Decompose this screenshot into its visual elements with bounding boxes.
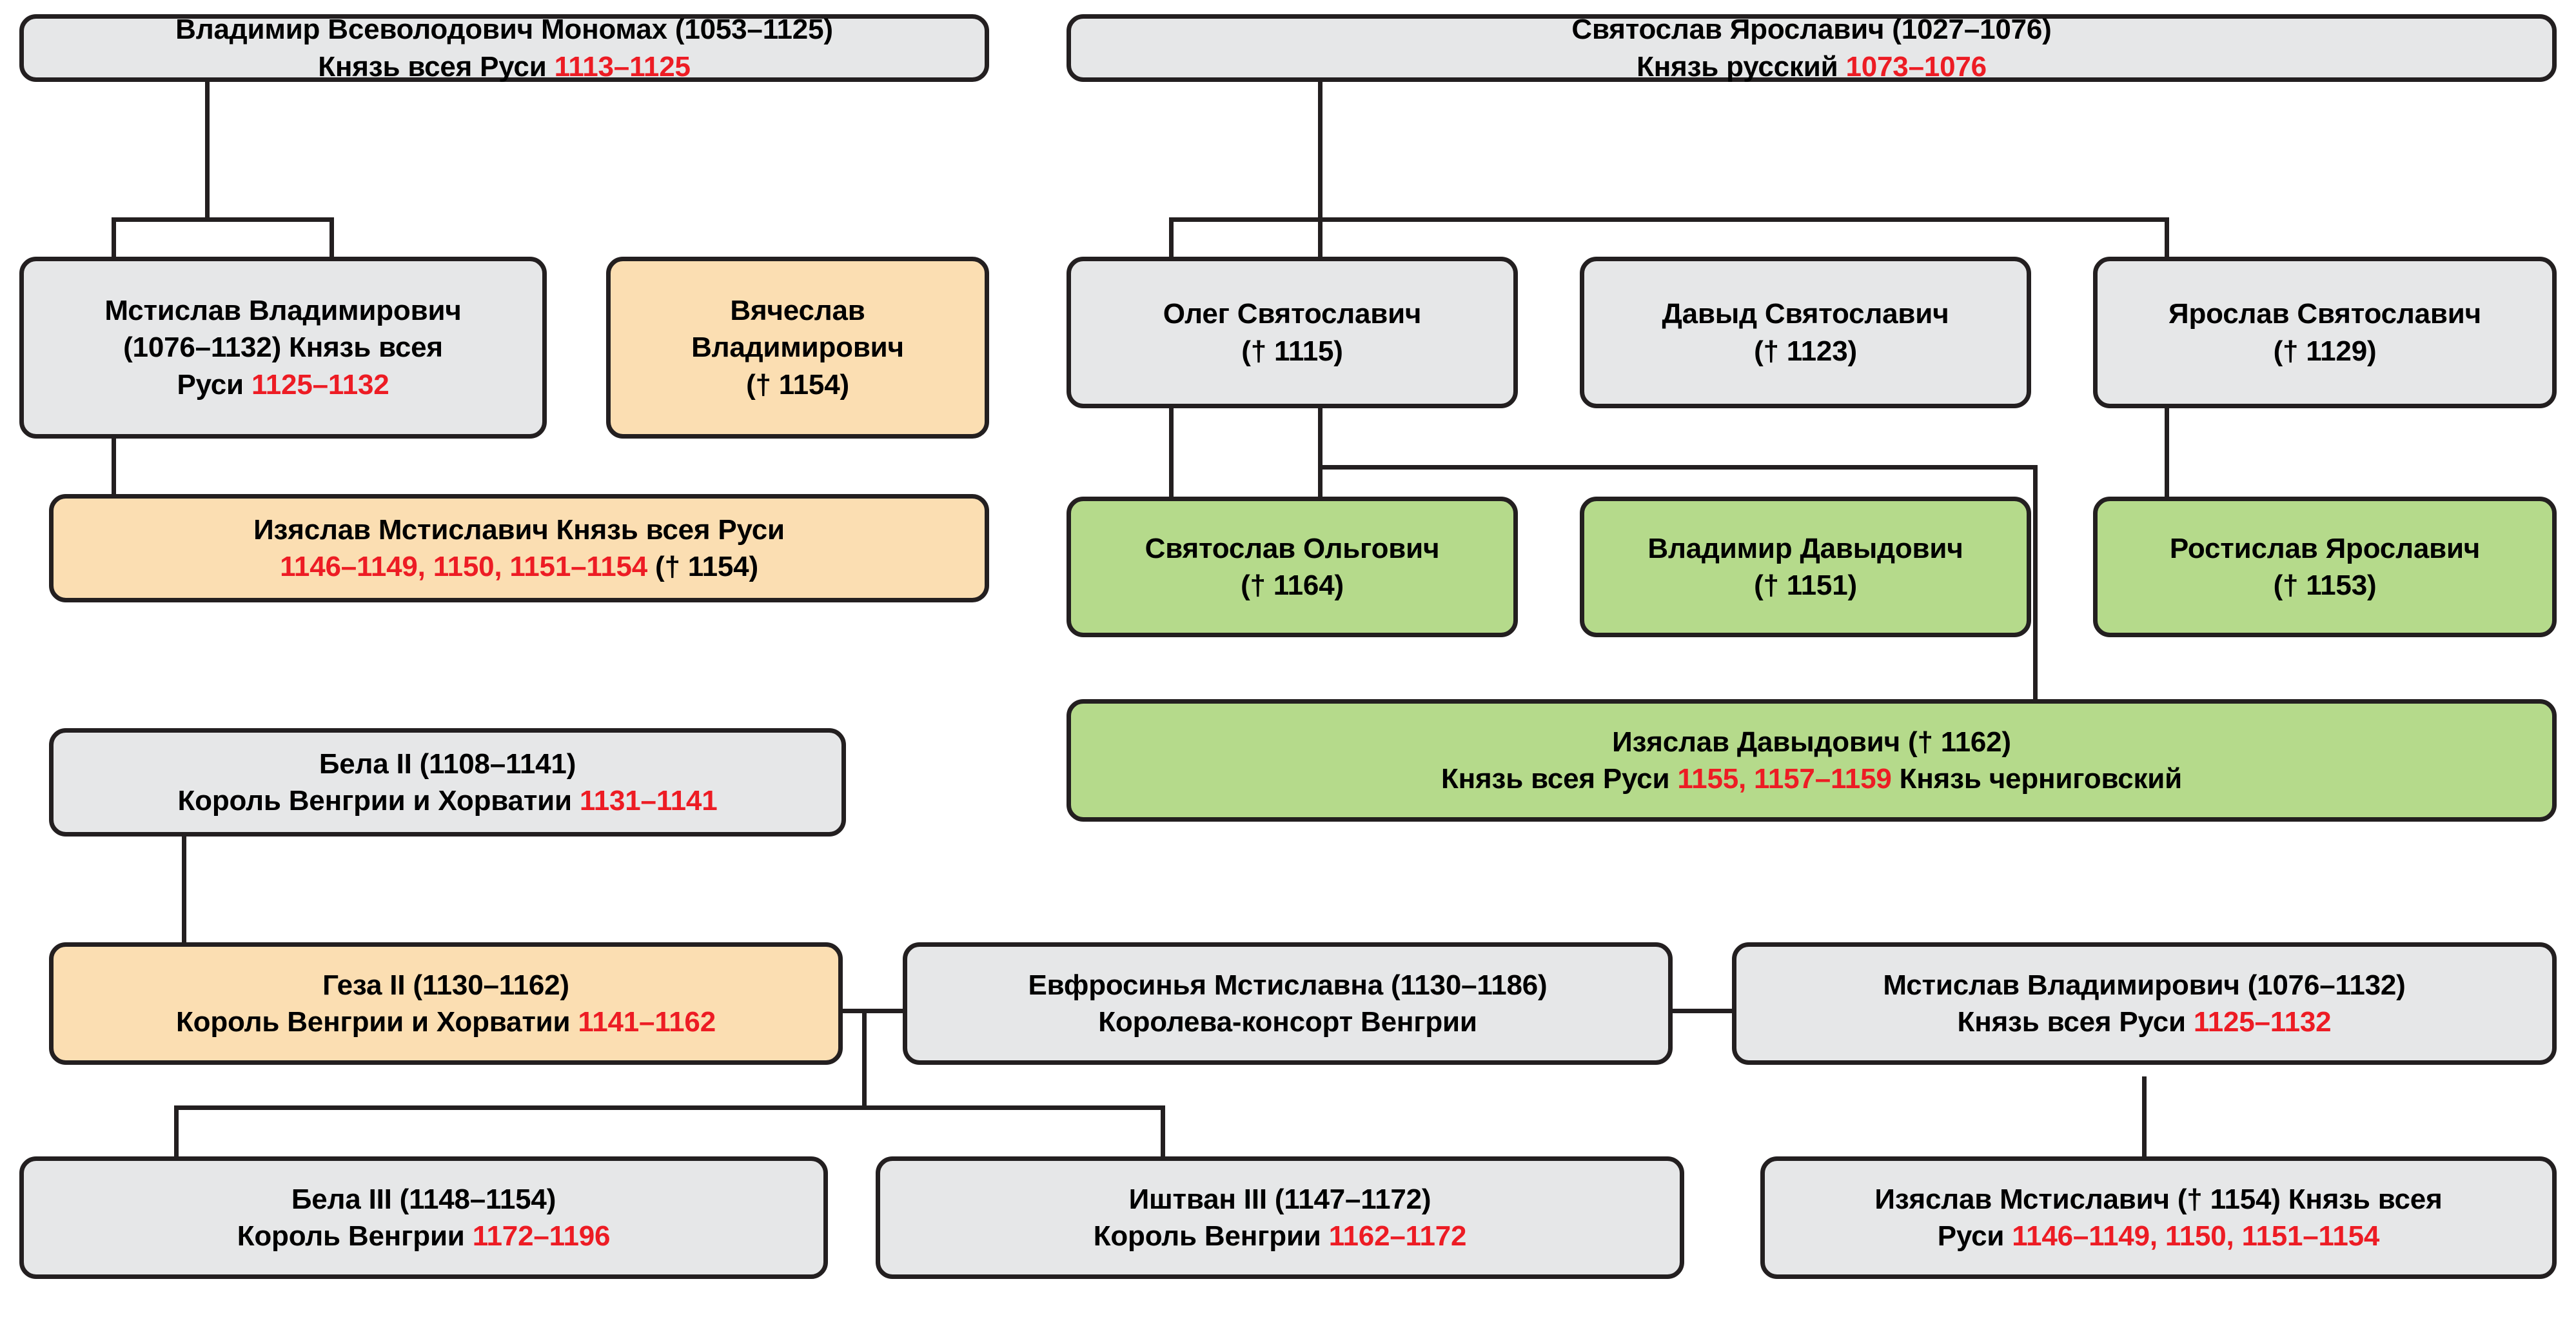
node-izyaslav-left-suffix: († 1154) xyxy=(647,551,758,582)
node-izyaslav-davydovich-title: Князь всея Руси xyxy=(1441,763,1677,795)
node-yaroslav-svyatoslavich[interactable]: Ярослав Святославич († 1129) xyxy=(2093,257,2557,408)
connector-davyd-branch-bar xyxy=(1318,465,2038,470)
node-ishtvan-iii[interactable]: Иштван III (1147–1172) Король Венгрии 11… xyxy=(876,1156,1684,1279)
node-evfrosinya-line2: Королева-консорт Венгрии xyxy=(918,1004,1658,1040)
node-izyaslav-davydovich-years: 1155, 1157–1159 xyxy=(1677,763,1891,795)
node-bela3-line1: Бела III (1148–1154) xyxy=(34,1181,813,1218)
node-ishtvan3-title: Король Венгрии xyxy=(1094,1220,1329,1252)
node-evfrosinya-mstislavna[interactable]: Евфросинья Мстиславна (1130–1186) Короле… xyxy=(903,942,1673,1065)
connector-to-ishtvan3 xyxy=(1161,1105,1165,1159)
node-davyd-line2: († 1123) xyxy=(1595,333,2016,370)
node-vladimir-monomakh-line1: Владимир Всеволодович Мономах (1053–1125… xyxy=(34,11,974,48)
node-rostislav-line2: († 1153) xyxy=(2108,567,2542,604)
node-rostislav-yaroslavich[interactable]: Ростислав Ярославич († 1153) xyxy=(2093,497,2557,637)
connector-mstislav-right-to-izyaslav-right xyxy=(2142,1076,2147,1159)
node-izyaslav-davydovich-suffix: Князь черниговский xyxy=(1892,763,2182,795)
node-mstislav-vladimirovich-top[interactable]: Мстислав Владимирович (1076–1132) Князь … xyxy=(19,257,547,439)
genealogy-diagram: Владимир Всеволодович Мономах (1053–1125… xyxy=(0,0,2576,1337)
node-oleg-line1: Олег Святославич xyxy=(1081,295,1503,332)
connector-davyd-branch-down xyxy=(2033,465,2038,702)
node-davyd-line1: Давыд Святославич xyxy=(1595,295,2016,332)
node-izyaslav-davydovich-line1: Изяслав Давыдович († 1162) xyxy=(1081,724,2542,760)
connector-children-bar-hungary xyxy=(174,1105,1165,1110)
connector-bela2-to-geza2 xyxy=(182,835,186,946)
node-vladimir-monomakh[interactable]: Владимир Всеволодович Мономах (1053–1125… xyxy=(19,14,989,82)
node-rostislav-line1: Ростислав Ярославич xyxy=(2108,530,2542,567)
node-yaroslav-line1: Ярослав Святославич xyxy=(2108,295,2542,332)
node-izyaslav-right-years: 1146–1149, 1150, 1151–1154 xyxy=(2012,1220,2379,1252)
node-vyacheslav-line2: Владимирович xyxy=(621,329,974,366)
node-svyatoslav-years: 1073–1076 xyxy=(1845,51,1986,83)
node-svyatoslav-line1: Святослав Ярославич (1027–1076) xyxy=(1081,11,2542,48)
node-svyatoslav-olgovich-line2: († 1164) xyxy=(1081,567,1503,604)
node-geza2-line1: Геза II (1130–1162) xyxy=(64,967,828,1004)
node-bela-ii[interactable]: Бела II (1108–1141) Король Венгрии и Хор… xyxy=(49,728,846,837)
node-svyatoslav-olgovich-line1: Святослав Ольгович xyxy=(1081,530,1503,567)
node-svyatoslav-yaroslavich[interactable]: Святослав Ярославич (1027–1076) Князь ру… xyxy=(1067,14,2557,82)
node-izyaslav-right-title: Руси xyxy=(1938,1220,2012,1252)
connector-monomakh-down xyxy=(205,67,210,222)
node-bela2-years: 1131–1141 xyxy=(580,785,718,817)
node-izyaslav-left-line1: Изяслав Мстиславич Князь всея Руси xyxy=(64,511,974,548)
connector-davyd-to-vladimir-davydovich xyxy=(1318,408,1322,502)
node-ishtvan3-years: 1162–1172 xyxy=(1329,1220,1467,1252)
connector-marriage-geza-evfrosinya xyxy=(841,1009,905,1013)
node-geza2-title: Король Венгрии и Хорватии xyxy=(176,1006,578,1038)
node-svyatoslav-title: Князь русский xyxy=(1637,51,1845,83)
node-vladimir-monomakh-years: 1113–1125 xyxy=(555,51,691,83)
connector-oleg-to-svyatoslav-olgovich xyxy=(1169,408,1174,502)
node-yaroslav-line2: († 1129) xyxy=(2108,333,2542,370)
node-bela-iii[interactable]: Бела III (1148–1154) Король Венгрии 1172… xyxy=(19,1156,828,1279)
node-vladimir-davydovich-line1: Владимир Давыдович xyxy=(1595,530,2016,567)
connector-svyatoslav-down xyxy=(1318,67,1322,222)
node-mstislav-right-line1: Мстислав Владимирович (1076–1132) xyxy=(1747,967,2542,1004)
node-vyacheslav-vladimirovich[interactable]: Вячеслав Владимирович († 1154) xyxy=(606,257,989,439)
node-bela3-years: 1172–1196 xyxy=(473,1220,611,1252)
node-bela3-title: Король Венгрии xyxy=(237,1220,473,1252)
node-geza2-years: 1141–1162 xyxy=(578,1006,716,1038)
node-mstislav-top-line1: Мстислав Владимирович xyxy=(34,292,532,329)
node-evfrosinya-line1: Евфросинья Мстиславна (1130–1186) xyxy=(918,967,1658,1004)
node-oleg-line2: († 1115) xyxy=(1081,333,1503,370)
node-bela2-title: Король Венгрии и Хорватии xyxy=(178,785,580,817)
connector-marriage-drop xyxy=(862,1009,867,1110)
node-izyaslav-mstislavich-right[interactable]: Изяслав Мстиславич († 1154) Князь всея Р… xyxy=(1760,1156,2557,1279)
node-mstislav-right-years: 1125–1132 xyxy=(2194,1006,2332,1038)
node-mstislav-vladimirovich-right[interactable]: Мстислав Владимирович (1076–1132) Князь … xyxy=(1732,942,2557,1065)
node-vladimir-monomakh-title: Князь всея Руси xyxy=(318,51,554,83)
connector-monomakh-bar xyxy=(112,217,334,222)
node-vladimir-davydovich-line2: († 1151) xyxy=(1595,567,2016,604)
node-vyacheslav-line3: († 1154) xyxy=(621,366,974,403)
node-bela2-line1: Бела II (1108–1141) xyxy=(64,746,831,782)
node-svyatoslav-olgovich[interactable]: Святослав Ольгович († 1164) xyxy=(1067,497,1518,637)
connector-marriage-evfrosinya-mstislav xyxy=(1670,1009,1734,1013)
node-izyaslav-left-years: 1146–1149, 1150, 1151–1154 xyxy=(280,551,647,582)
connector-yaroslav-to-rostislav xyxy=(2165,408,2169,502)
node-mstislav-top-line2: (1076–1132) Князь всея xyxy=(34,329,532,366)
node-oleg-svyatoslavich[interactable]: Олег Святославич († 1115) xyxy=(1067,257,1518,408)
node-mstislav-top-years: 1125–1132 xyxy=(251,369,389,401)
node-vyacheslav-line1: Вячеслав xyxy=(621,292,974,329)
connector-to-bela3 xyxy=(174,1105,179,1159)
node-geza-ii[interactable]: Геза II (1130–1162) Король Венгрии и Хор… xyxy=(49,942,843,1065)
node-izyaslav-mstislavich-left[interactable]: Изяслав Мстиславич Князь всея Руси 1146–… xyxy=(49,494,989,602)
node-vladimir-davydovich[interactable]: Владимир Давыдович († 1151) xyxy=(1580,497,2031,637)
connector-mstislav-to-izyaslav xyxy=(112,435,116,500)
node-ishtvan3-line1: Иштван III (1147–1172) xyxy=(890,1181,1669,1218)
node-davyd-svyatoslavich[interactable]: Давыд Святославич († 1123) xyxy=(1580,257,2031,408)
node-izyaslav-right-line1: Изяслав Мстиславич († 1154) Князь всея xyxy=(1775,1181,2542,1218)
node-mstislav-top-title: Руси xyxy=(177,369,251,401)
node-izyaslav-davydovich[interactable]: Изяслав Давыдович († 1162) Князь всея Ру… xyxy=(1067,699,2557,822)
node-mstislav-right-title: Князь всея Руси xyxy=(1958,1006,2194,1038)
